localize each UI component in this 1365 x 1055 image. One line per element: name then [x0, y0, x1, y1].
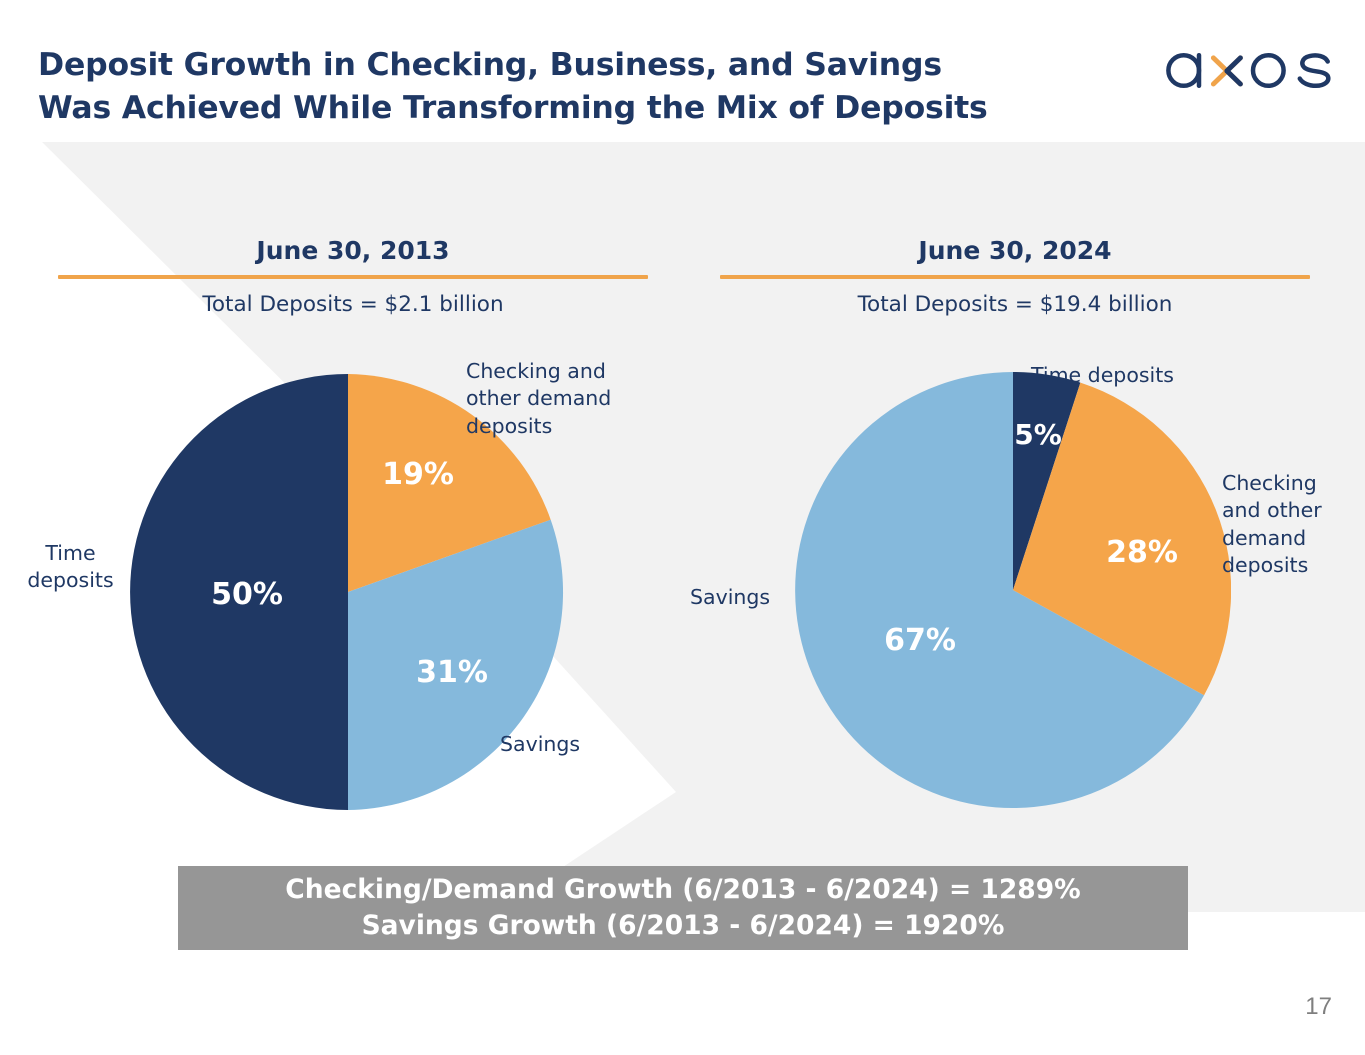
column-header-2024: June 30, 2024 Total Deposits = $19.4 bil… — [720, 238, 1310, 317]
header-rule — [58, 275, 648, 279]
logo-letter-s — [1300, 55, 1329, 85]
pie-value-time-deposits: 5% — [1014, 418, 1062, 451]
logo-letter-x — [1213, 58, 1240, 84]
column-date-label: June 30, 2013 — [58, 238, 648, 263]
growth-line-savings: Savings Growth (6/2013 - 6/2024) = 1920% — [362, 908, 1005, 944]
growth-callout-banner: Checking/Demand Growth (6/2013 - 6/2024)… — [178, 866, 1188, 950]
pie-value-time-deposits: 50% — [211, 577, 283, 612]
pie-chart-2024: 5% 28% 67% — [795, 372, 1231, 808]
pie-value-checking: 28% — [1106, 535, 1178, 570]
page-number: 17 — [1305, 993, 1332, 1021]
label-savings-2013: Savings — [500, 731, 650, 758]
axos-logo — [1163, 40, 1343, 92]
label-checking-2013: Checking and other demand deposits — [466, 358, 666, 440]
logo-letter-o — [1253, 55, 1284, 86]
total-deposits-label: Total Deposits = $2.1 billion — [58, 292, 648, 317]
pie-value-checking: 19% — [382, 457, 454, 492]
pie-value-savings: 67% — [884, 623, 956, 658]
growth-line-checking: Checking/Demand Growth (6/2013 - 6/2024)… — [285, 872, 1080, 908]
column-header-2013: June 30, 2013 Total Deposits = $2.1 bill… — [58, 238, 648, 317]
label-time-deposits-2024: Time deposits — [1031, 362, 1231, 389]
label-savings-2024: Savings — [690, 584, 808, 611]
page-title: Deposit Growth in Checking, Business, an… — [38, 44, 1118, 131]
column-date-label: June 30, 2024 — [720, 238, 1310, 263]
logo-letter-a — [1168, 55, 1199, 86]
pie-value-savings: 31% — [416, 655, 488, 690]
label-time-deposits-2013: Time deposits — [8, 540, 133, 595]
label-checking-2024: Checking and other demand deposits — [1222, 470, 1362, 579]
header-rule — [720, 275, 1310, 279]
total-deposits-label: Total Deposits = $19.4 billion — [720, 292, 1310, 317]
